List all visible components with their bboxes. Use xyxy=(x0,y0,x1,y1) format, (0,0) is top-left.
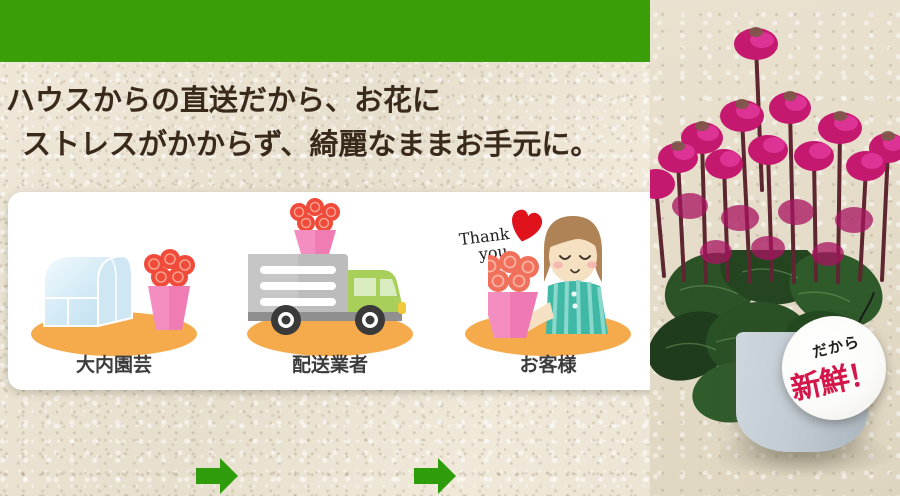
lead-copy: ハウスからの直送だから、お花に ストレスがかからず、綺麗なままお手元に。 xyxy=(6,78,599,166)
greenhouse-icon xyxy=(28,244,148,330)
delivery-truck-icon xyxy=(242,246,418,338)
promo-banner: ダイレクトにお客様のもとへ ハウスからの直送だから、お花に ストレスがかからず、… xyxy=(0,0,900,496)
flow-arrow-2-icon xyxy=(412,456,458,496)
flow-step-label-customer: お客様 xyxy=(448,350,648,377)
delivery-flow-card: 大内園芸 xyxy=(8,192,666,390)
flower-pot-icon xyxy=(138,246,200,334)
flow-step-customer: Thank you xyxy=(448,200,648,382)
cyclamen-blooms xyxy=(650,0,900,270)
flow-step-label-carrier: 配送業者 xyxy=(230,350,430,377)
customer-woman-icon xyxy=(488,210,638,342)
flow-step-label-grower: 大内園芸 xyxy=(14,350,214,377)
flow-arrow-1-icon xyxy=(194,456,240,496)
flow-step-grower: 大内園芸 xyxy=(14,200,214,382)
lead-line-2: ストレスがかからず、綺麗なままお手元に。 xyxy=(6,122,599,166)
flow-step-carrier: 配送業者 xyxy=(230,200,430,382)
cyclamen-photo xyxy=(650,0,900,496)
freshness-badge: だから 新鮮！ xyxy=(782,316,886,420)
lead-line-1: ハウスからの直送だから、お花に xyxy=(6,78,599,122)
